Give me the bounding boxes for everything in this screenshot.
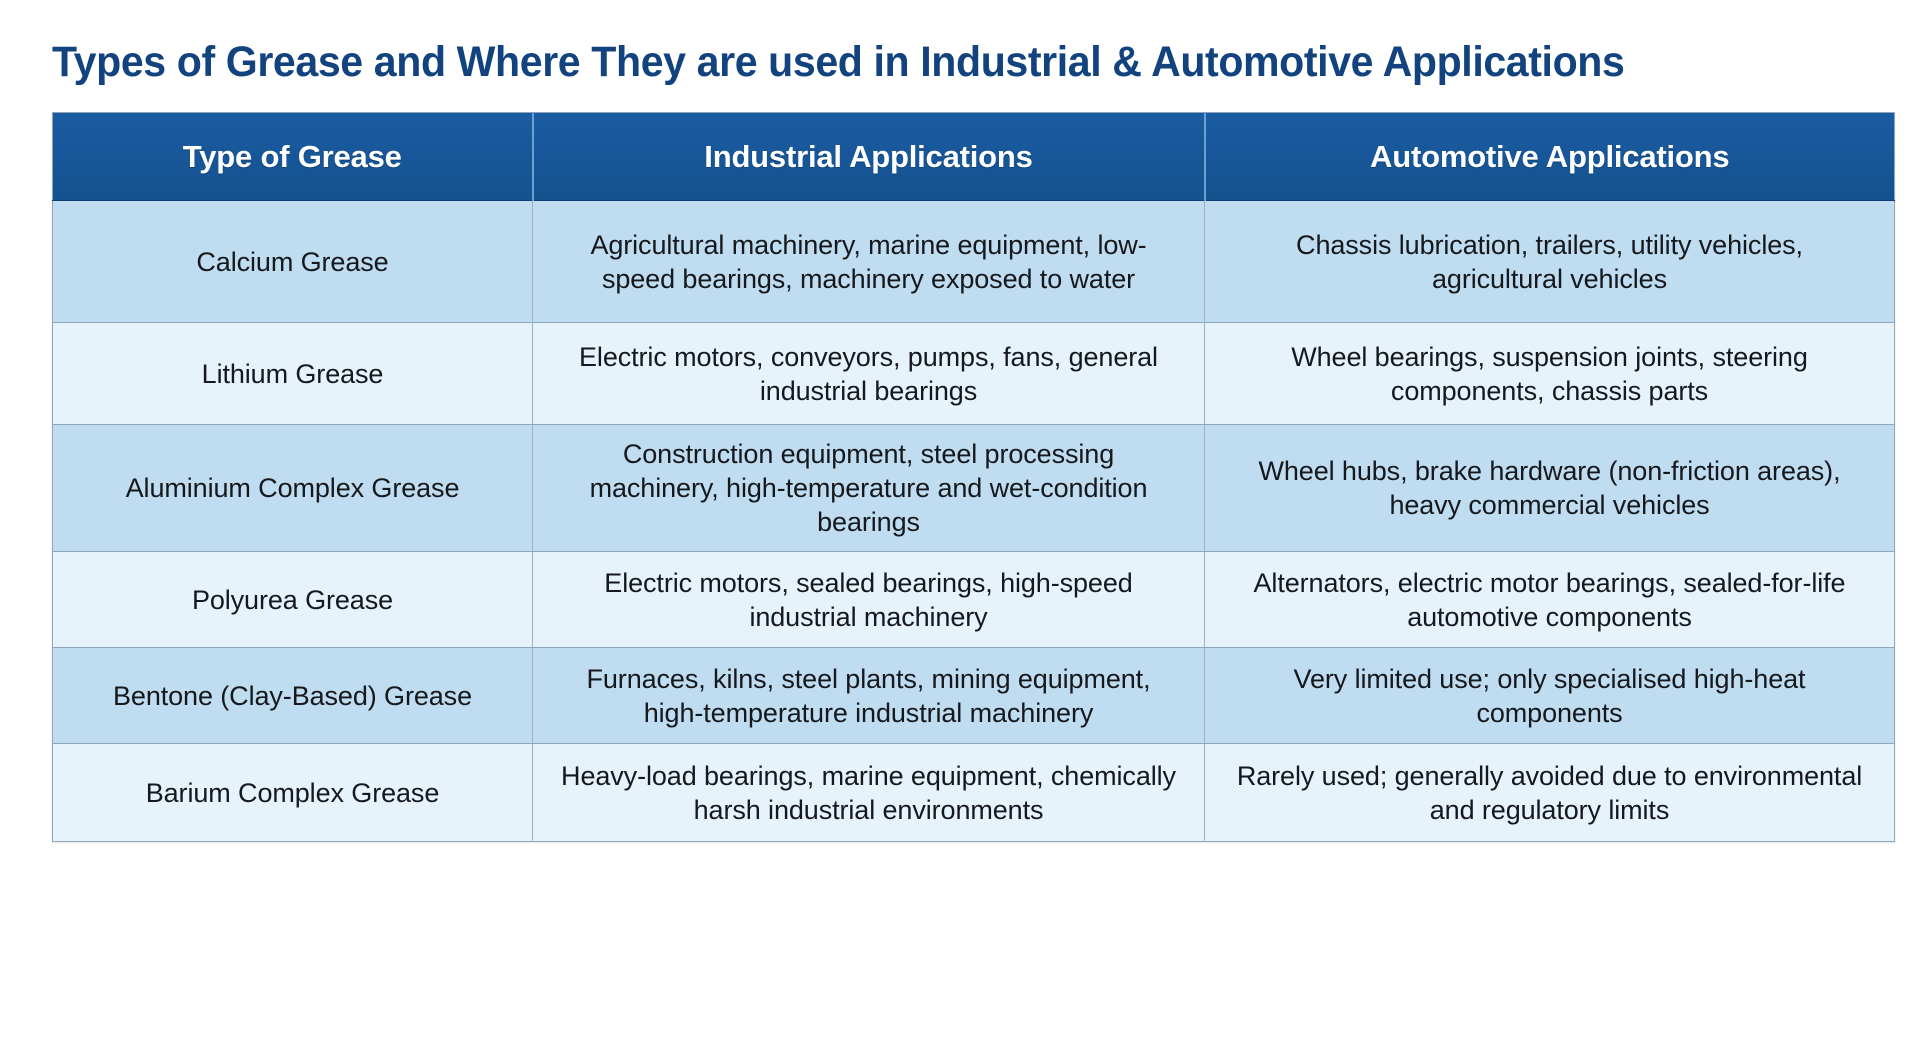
table-header: Type of Grease Industrial Applications A… xyxy=(53,113,1895,201)
cell-industrial-applications: Agricultural machinery, marine equipment… xyxy=(533,201,1205,323)
cell-grease-type: Aluminium Complex Grease xyxy=(53,425,533,552)
cell-industrial-applications: Electric motors, conveyors, pumps, fans,… xyxy=(533,323,1205,425)
table-header-row: Type of Grease Industrial Applications A… xyxy=(53,113,1895,201)
column-header-industrial-applications: Industrial Applications xyxy=(533,113,1205,201)
table-row: Polyurea Grease Electric motors, sealed … xyxy=(53,552,1895,648)
cell-grease-type: Polyurea Grease xyxy=(53,552,533,648)
cell-automotive-applications: Very limited use; only specialised high-… xyxy=(1205,648,1895,744)
watermark-icon xyxy=(1724,938,1802,1010)
table-row: Lithium Grease Electric motors, conveyor… xyxy=(53,323,1895,425)
cell-automotive-applications: Alternators, electric motor bearings, se… xyxy=(1205,552,1895,648)
cell-automotive-applications: Rarely used; generally avoided due to en… xyxy=(1205,744,1895,842)
page-title: Types of Grease and Where They are used … xyxy=(52,36,1809,88)
column-header-automotive-applications: Automotive Applications xyxy=(1205,113,1895,201)
cell-grease-type: Lithium Grease xyxy=(53,323,533,425)
table-row: Aluminium Complex Grease Construction eq… xyxy=(53,425,1895,552)
cell-automotive-applications: Wheel bearings, suspension joints, steer… xyxy=(1205,323,1895,425)
cell-grease-type: Bentone (Clay-Based) Grease xyxy=(53,648,533,744)
grease-applications-table: Type of Grease Industrial Applications A… xyxy=(52,112,1895,842)
table-row: Barium Complex Grease Heavy-load bearing… xyxy=(53,744,1895,842)
table-row: Bentone (Clay-Based) Grease Furnaces, ki… xyxy=(53,648,1895,744)
cell-industrial-applications: Heavy-load bearings, marine equipment, c… xyxy=(533,744,1205,842)
cell-automotive-applications: Wheel hubs, brake hardware (non-friction… xyxy=(1205,425,1895,552)
cell-industrial-applications: Construction equipment, steel processing… xyxy=(533,425,1205,552)
table-row: Calcium Grease Agricultural machinery, m… xyxy=(53,201,1895,323)
column-header-type-of-grease: Type of Grease xyxy=(53,113,533,201)
cell-grease-type: Barium Complex Grease xyxy=(53,744,533,842)
infographic-page: Types of Grease and Where They are used … xyxy=(0,0,1920,1048)
cell-grease-type: Calcium Grease xyxy=(53,201,533,323)
cell-industrial-applications: Electric motors, sealed bearings, high-s… xyxy=(533,552,1205,648)
table-body: Calcium Grease Agricultural machinery, m… xyxy=(53,201,1895,842)
cell-industrial-applications: Furnaces, kilns, steel plants, mining eq… xyxy=(533,648,1205,744)
cell-automotive-applications: Chassis lubrication, trailers, utility v… xyxy=(1205,201,1895,323)
